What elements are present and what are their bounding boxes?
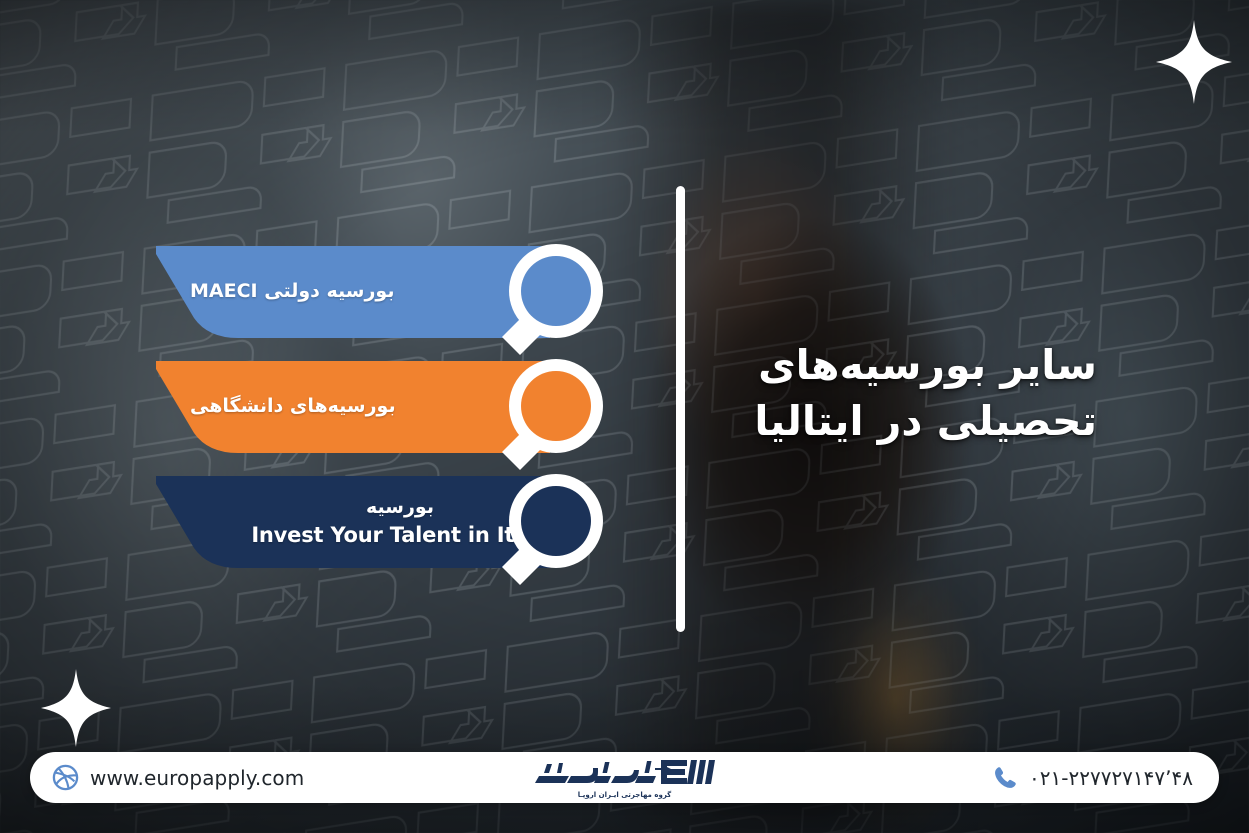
footer-phone[interactable]: ۰۲۱-۲۲۷۷۲۷۱۴۷٬۴۸ (993, 765, 1193, 790)
scholarship-list: بورسیه دولتی MAECI بورسیه‌های دانشگاهی (150, 246, 620, 591)
magnifier-icon-university (490, 350, 614, 470)
phone-number: ۰۲۱-۲۲۷۷۲۷۱۴۷٬۴۸ (1029, 766, 1193, 790)
magnifier-icon-invest-your-talent (490, 465, 614, 585)
list-item-maeci[interactable]: بورسیه دولتی MAECI (150, 246, 620, 361)
page-title: سایر بورسیه‌های تحصیلی در ایتالیا (727, 338, 1097, 450)
brand-logo-mark (535, 756, 715, 790)
globe-icon (52, 764, 79, 791)
brand-logo: گروه مهاجرتی ایـران اروپـا (535, 756, 715, 799)
poster-canvas: سایر بورسیه‌های تحصیلی در ایتالیا بورسیه… (0, 0, 1249, 833)
footer-bar: www.europapply.com (30, 752, 1219, 803)
brand-logo-subtitle: گروه مهاجرتی ایـران اروپـا (578, 791, 672, 799)
phone-icon (993, 765, 1018, 790)
list-item-invest-your-talent[interactable]: بورسیه Invest Your Talent in Italy (150, 476, 620, 591)
magnifier-icon-maeci (490, 235, 614, 355)
page-title-line-2: تحصیلی در ایتالیا (727, 394, 1097, 450)
footer-website[interactable]: www.europapply.com (52, 764, 304, 791)
vertical-divider (676, 186, 685, 632)
page-title-line-1: سایر بورسیه‌های (727, 338, 1097, 394)
website-url: www.europapply.com (90, 766, 304, 790)
list-item-university[interactable]: بورسیه‌های دانشگاهی (150, 361, 620, 476)
